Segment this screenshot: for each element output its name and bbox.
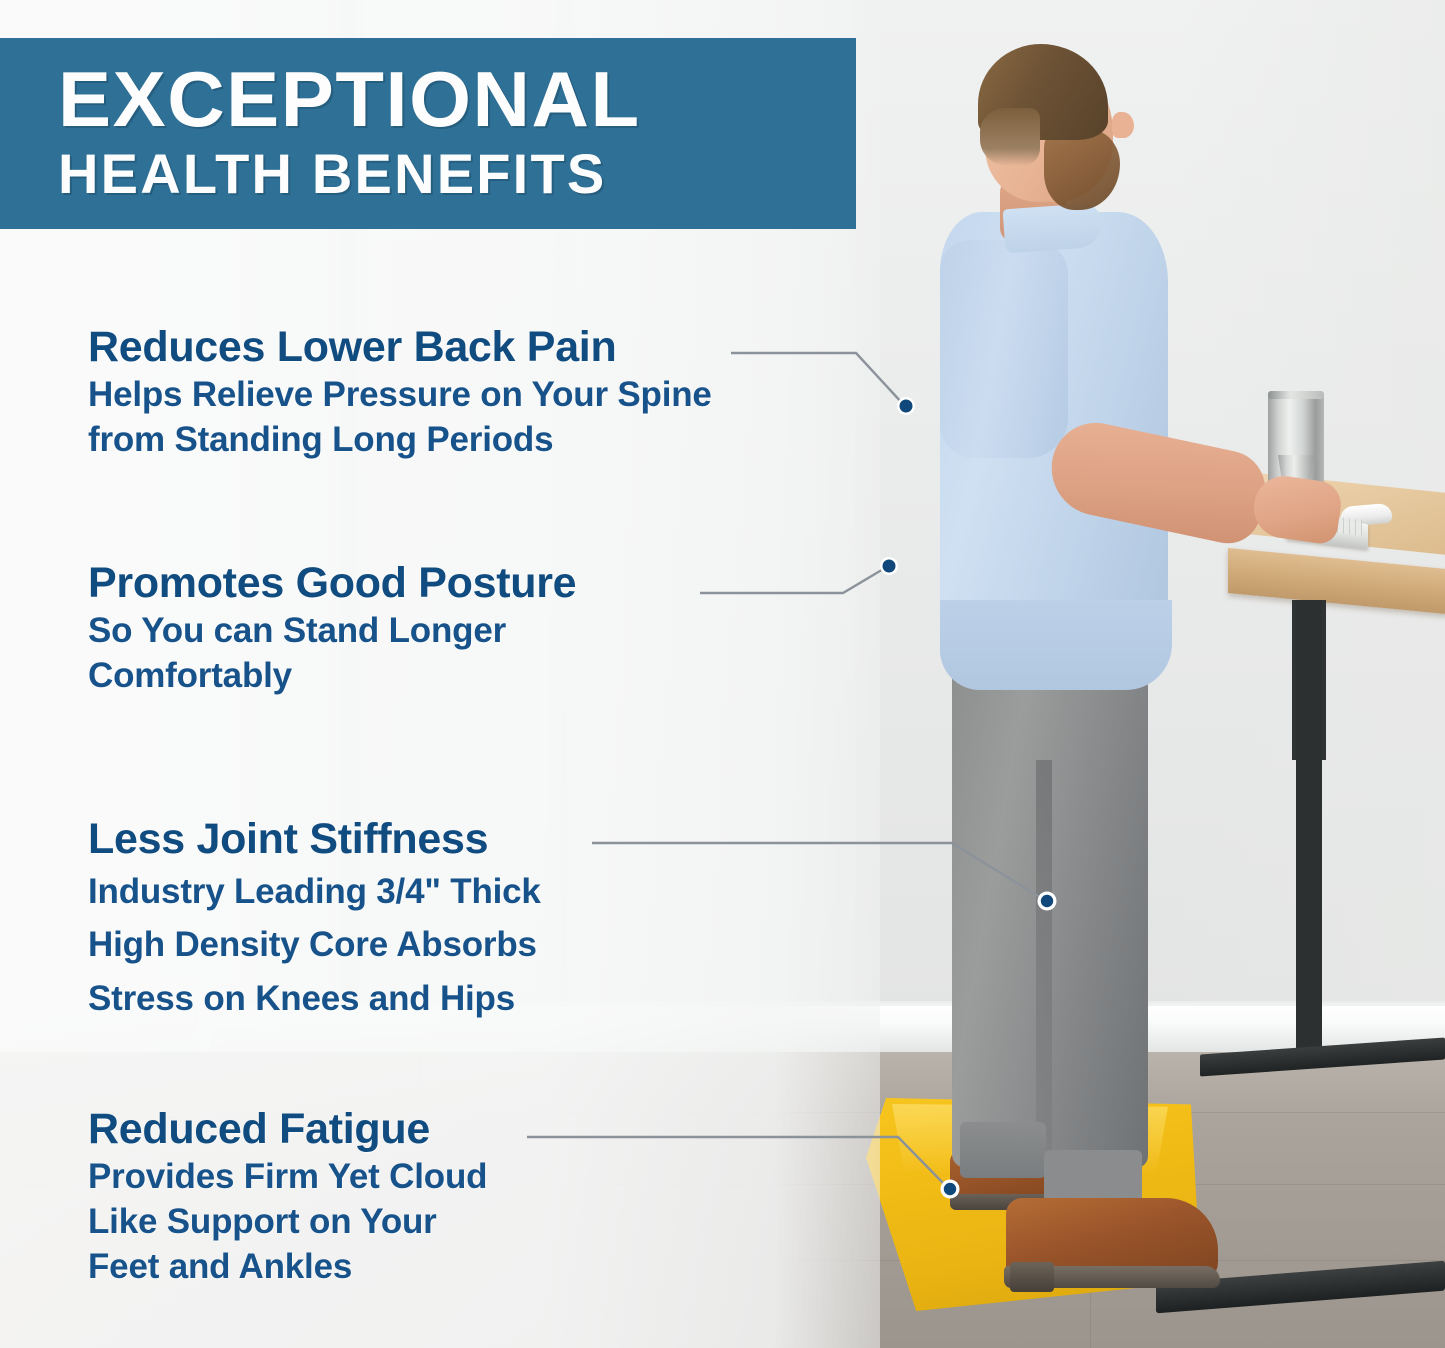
pants-leg-seam — [1036, 760, 1052, 1160]
shoe-heel — [1010, 1262, 1054, 1292]
banner-title-line-2: HEALTH BENEFITS — [58, 143, 856, 205]
benefit-line: Comfortably — [88, 655, 576, 696]
benefit-line: So You can Stand Longer — [88, 610, 576, 651]
benefit-block-fatigue: Reduced Fatigue Provides Firm Yet Cloud … — [88, 1108, 487, 1288]
nose — [1112, 112, 1134, 138]
benefit-title: Reduces Lower Back Pain — [88, 326, 712, 370]
benefit-line: Helps Relieve Pressure on Your Spine — [88, 374, 712, 415]
banner-title-line-1: EXCEPTIONAL — [58, 62, 872, 137]
benefit-title: Less Joint Stiffness — [88, 818, 541, 862]
benefit-line: Like Support on Your — [88, 1201, 487, 1242]
benefit-title: Promotes Good Posture — [88, 562, 576, 606]
header-banner: EXCEPTIONAL HEALTH BENEFITS — [0, 38, 856, 229]
benefit-line: Feet and Ankles — [88, 1246, 487, 1287]
benefit-line: from Standing Long Periods — [88, 419, 712, 460]
benefit-line: Stress on Knees and Hips — [88, 975, 541, 1023]
benefit-block-posture: Promotes Good Posture So You can Stand L… — [88, 562, 576, 696]
hair-sideburn — [980, 108, 1040, 166]
shirt-sleeve — [940, 240, 1068, 458]
benefit-line: Industry Leading 3/4" Thick — [88, 868, 541, 916]
tumbler-rim — [1268, 391, 1324, 399]
benefit-line: Provides Firm Yet Cloud — [88, 1156, 487, 1197]
benefit-title: Reduced Fatigue — [88, 1108, 487, 1152]
health-benefits-infographic: EXCEPTIONAL HEALTH BENEFITS Reduces Lowe… — [0, 0, 1445, 1348]
shirt-hem — [940, 600, 1172, 690]
desk-column — [1296, 600, 1322, 1055]
benefit-line: High Density Core Absorbs — [88, 921, 541, 969]
pants-cuff-left — [960, 1122, 1046, 1178]
benefit-block-back-pain: Reduces Lower Back Pain Helps Relieve Pr… — [88, 326, 712, 460]
benefit-block-joint-stiffness: Less Joint Stiffness Industry Leading 3/… — [88, 818, 541, 1023]
